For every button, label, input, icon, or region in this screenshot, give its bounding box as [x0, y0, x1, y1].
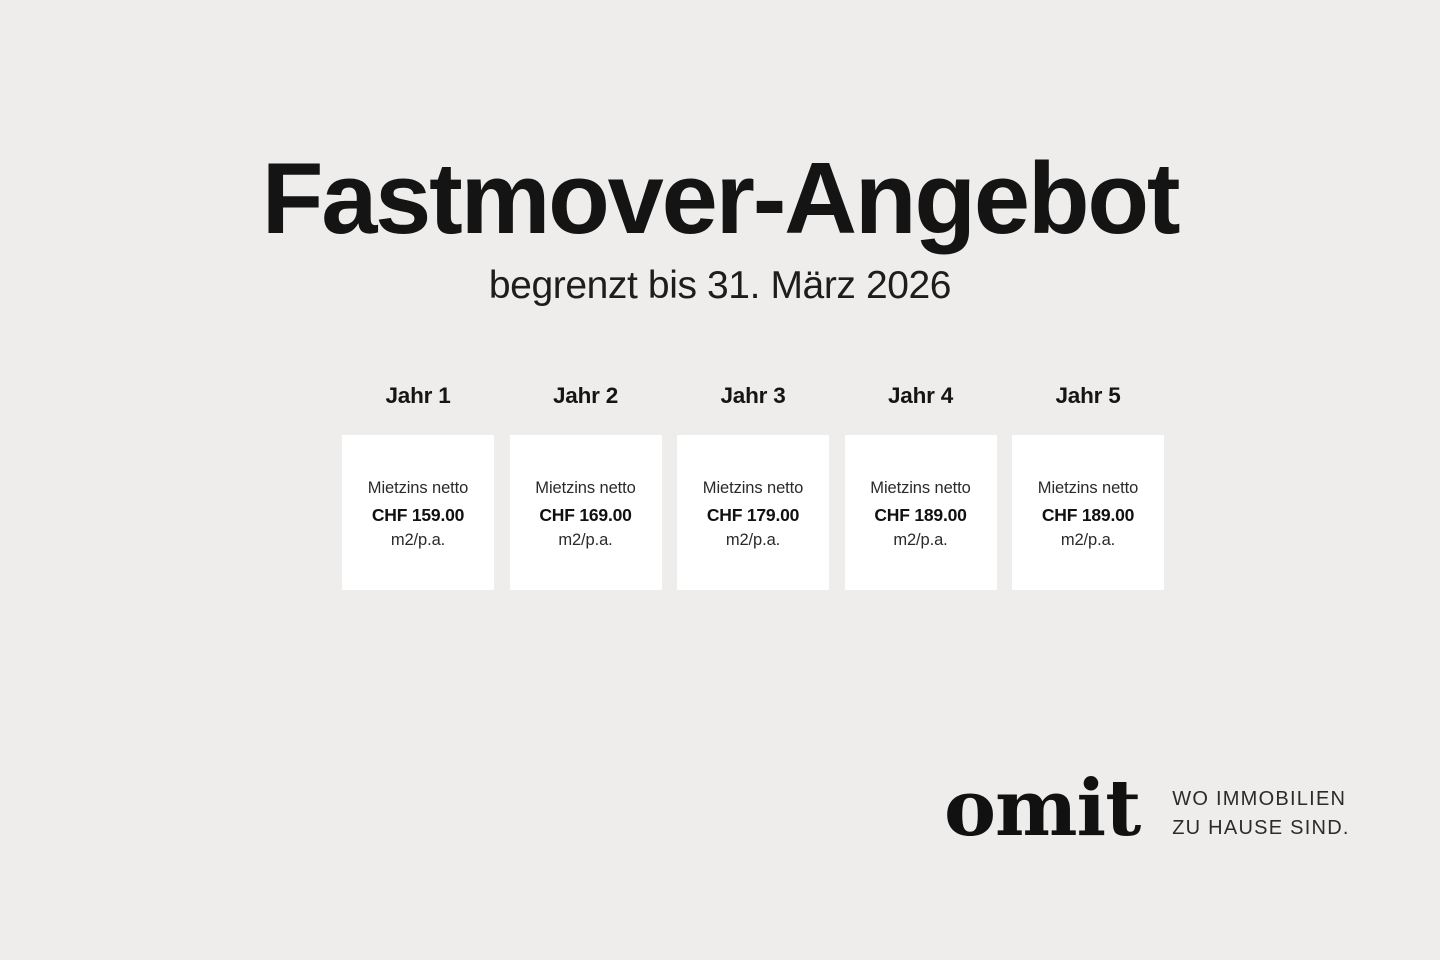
year-heading: Jahr 4 [888, 385, 953, 408]
heading-block: Fastmover-Angebot begrenzt bis 31. März … [0, 148, 1440, 308]
rent-unit: m2/p.a. [391, 530, 445, 551]
page-subtitle: begrenzt bis 31. März 2026 [0, 265, 1440, 308]
rent-label: Mietzins netto [1038, 478, 1138, 499]
offer-column: Jahr 5 Mietzins netto CHF 189.00 m2/p.a. [1012, 385, 1164, 590]
rent-price: CHF 189.00 [874, 504, 966, 526]
year-heading: Jahr 2 [553, 385, 618, 408]
rent-unit: m2/p.a. [558, 530, 612, 551]
rent-unit: m2/p.a. [1061, 530, 1115, 551]
brand-tagline-line-2: ZU HAUSE SIND. [1172, 814, 1350, 843]
price-card: Mietzins netto CHF 179.00 m2/p.a. [677, 435, 829, 590]
rent-price: CHF 189.00 [1042, 504, 1134, 526]
brand-logo: omit WO IMMOBILIEN ZU HAUSE SIND. [944, 772, 1350, 850]
rent-label: Mietzins netto [870, 478, 970, 499]
brand-wordmark: omit [944, 770, 1140, 848]
offer-column: Jahr 3 Mietzins netto CHF 179.00 m2/p.a. [677, 385, 829, 590]
brand-tagline: WO IMMOBILIEN ZU HAUSE SIND. [1172, 785, 1350, 843]
rent-label: Mietzins netto [368, 478, 468, 499]
offer-column: Jahr 1 Mietzins netto CHF 159.00 m2/p.a. [342, 385, 494, 590]
rent-unit: m2/p.a. [726, 530, 780, 551]
rent-label: Mietzins netto [703, 478, 803, 499]
year-heading: Jahr 5 [1055, 385, 1120, 408]
offer-column: Jahr 4 Mietzins netto CHF 189.00 m2/p.a. [845, 385, 997, 590]
year-heading: Jahr 1 [385, 385, 450, 408]
offer-columns: Jahr 1 Mietzins netto CHF 159.00 m2/p.a.… [342, 385, 1164, 590]
year-heading: Jahr 3 [720, 385, 785, 408]
page-title: Fastmover-Angebot [0, 148, 1440, 251]
rent-price: CHF 159.00 [372, 504, 464, 526]
rent-label: Mietzins netto [535, 478, 635, 499]
offer-column: Jahr 2 Mietzins netto CHF 169.00 m2/p.a. [510, 385, 662, 590]
rent-unit: m2/p.a. [893, 530, 947, 551]
rent-price: CHF 169.00 [539, 504, 631, 526]
offer-slide: Fastmover-Angebot begrenzt bis 31. März … [0, 0, 1440, 960]
price-card: Mietzins netto CHF 189.00 m2/p.a. [1012, 435, 1164, 590]
price-card: Mietzins netto CHF 169.00 m2/p.a. [510, 435, 662, 590]
price-card: Mietzins netto CHF 159.00 m2/p.a. [342, 435, 494, 590]
rent-price: CHF 179.00 [707, 504, 799, 526]
brand-tagline-line-1: WO IMMOBILIEN [1172, 785, 1350, 814]
price-card: Mietzins netto CHF 189.00 m2/p.a. [845, 435, 997, 590]
